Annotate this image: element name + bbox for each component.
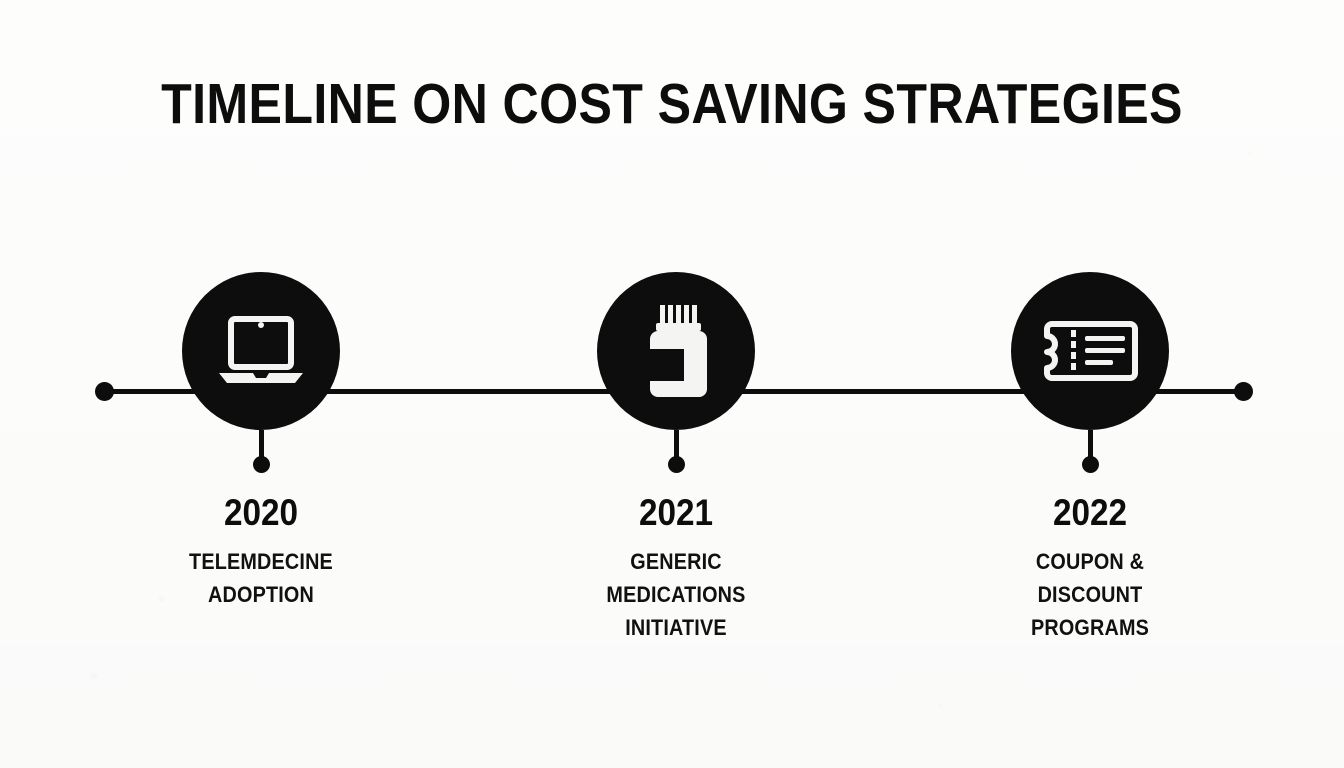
milestone-stem-dot — [253, 456, 270, 473]
milestone-2021[interactable]: 2021 GENERIC MEDICATIONS INITIATIVE — [556, 272, 796, 644]
milestone-stem-dot — [668, 456, 685, 473]
milestone-year: 2020 — [153, 493, 369, 533]
milestone-year: 2021 — [568, 493, 784, 533]
timeline-end-dot — [1234, 382, 1253, 401]
milestone-caption: GENERIC MEDICATIONS INITIATIVE — [568, 545, 784, 644]
milestone-icon-circle — [597, 272, 755, 430]
laptop-icon — [215, 315, 307, 387]
milestone-icon-circle — [182, 272, 340, 430]
milestone-year: 2022 — [982, 493, 1198, 533]
timeline-start-dot — [95, 382, 114, 401]
milestone-caption: TELEMDECINE ADOPTION — [140, 545, 381, 611]
milestone-caption: COUPON & DISCOUNT PROGRAMS — [982, 545, 1198, 644]
milestone-2020[interactable]: 2020 TELEMDECINE ADOPTION — [141, 272, 381, 611]
milestone-stem-dot — [1082, 456, 1099, 473]
coupon-ticket-icon — [1042, 320, 1138, 382]
milestone-icon-circle — [1011, 272, 1169, 430]
pill-bottle-icon — [636, 303, 716, 399]
milestone-2022[interactable]: 2022 COUPON & DISCOUNT PROGRAMS — [970, 272, 1210, 644]
